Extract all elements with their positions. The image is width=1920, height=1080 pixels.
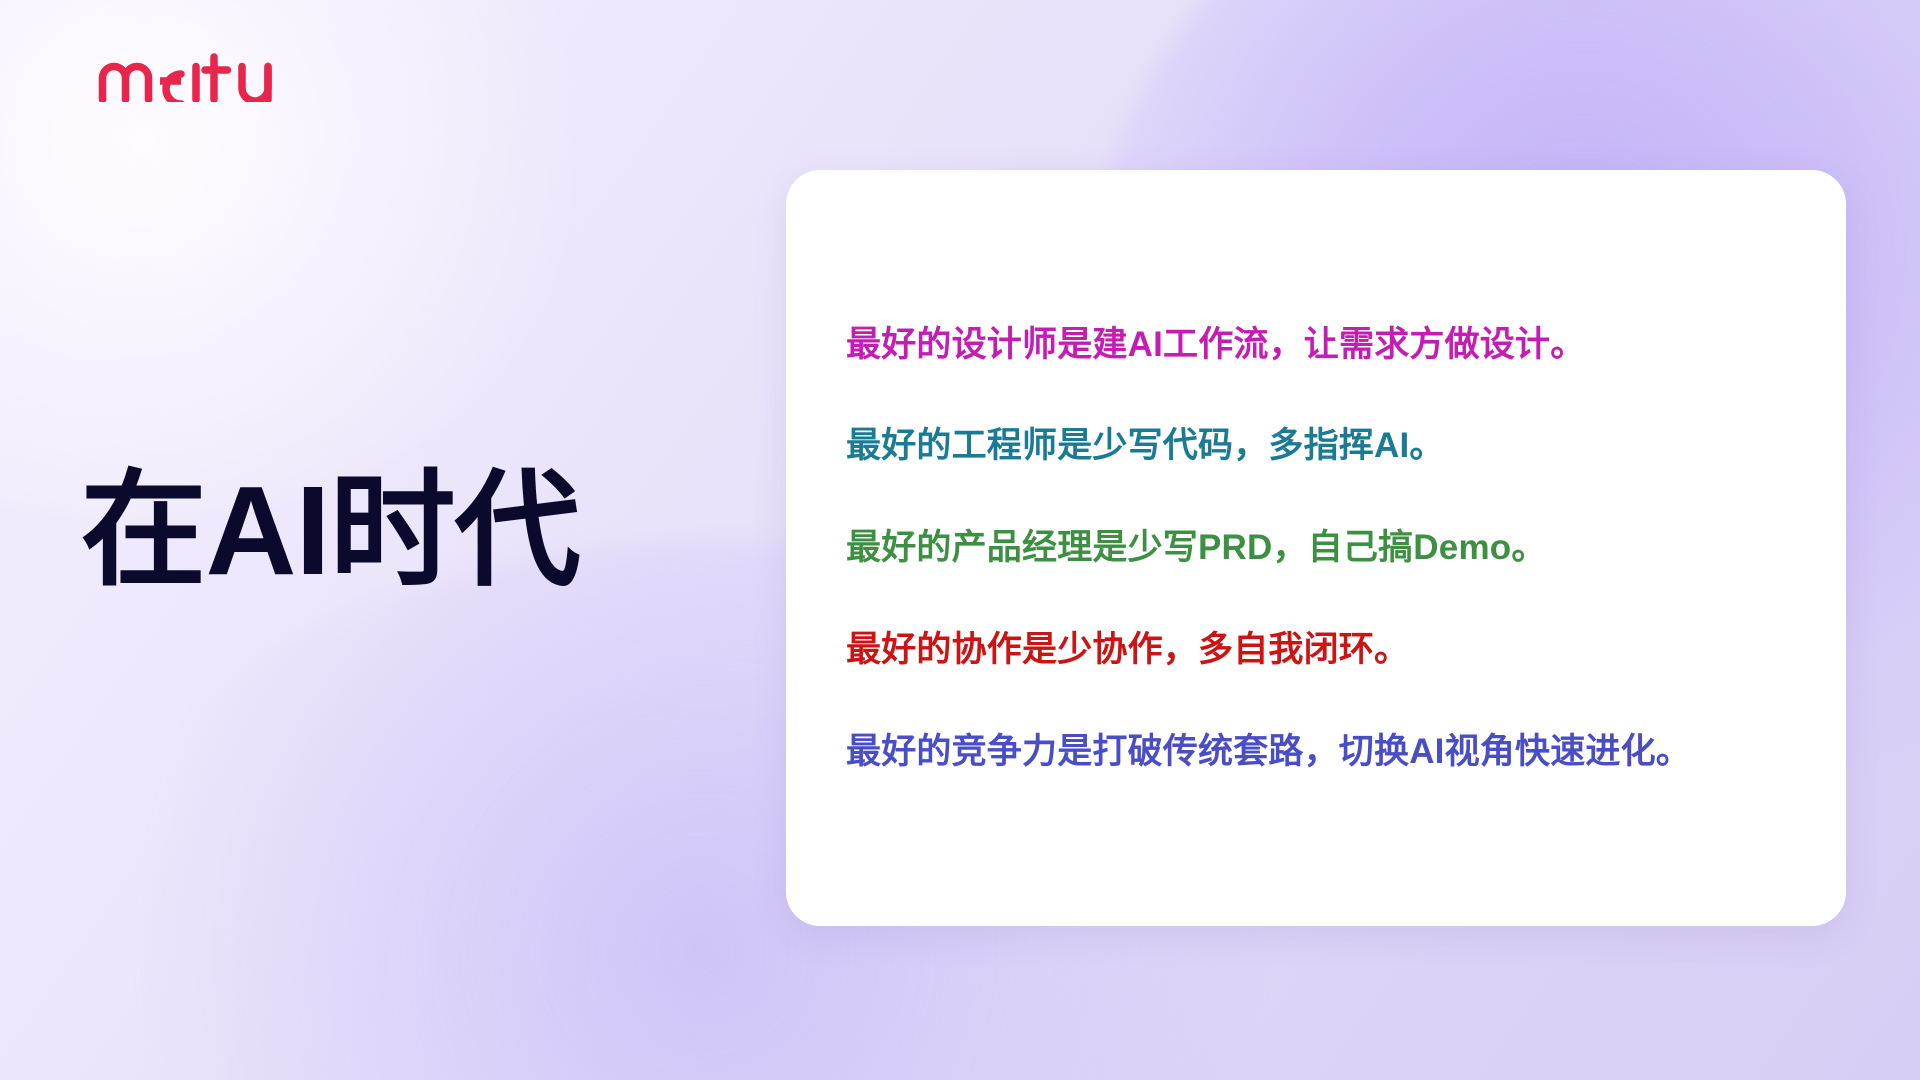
- statement-line-product-manager: 最好的产品经理是少写PRD，自己搞Demo。: [846, 526, 1790, 570]
- page-title: 在AI时代: [81, 465, 580, 597]
- statement-line-engineer: 最好的工程师是少写代码，多指挥AI。: [846, 424, 1790, 468]
- statement-line-designer: 最好的设计师是建AI工作流，让需求方做设计。: [846, 323, 1790, 367]
- statement-line-competitiveness: 最好的竞争力是打破传统套路，切换AI视角快速进化。: [846, 730, 1790, 774]
- statement-line-collaboration: 最好的协作是少协作，多自我闭环。: [846, 628, 1790, 672]
- presentation-slide: 在AI时代 最好的设计师是建AI工作流，让需求方做设计。 最好的工程师是少写代码…: [0, 0, 1920, 1080]
- statement-list: 最好的设计师是建AI工作流，让需求方做设计。 最好的工程师是少写代码，多指挥AI…: [842, 323, 1790, 774]
- headline-block: 在AI时代: [0, 0, 660, 1080]
- statement-card: 最好的设计师是建AI工作流，让需求方做设计。 最好的工程师是少写代码，多指挥AI…: [786, 170, 1846, 926]
